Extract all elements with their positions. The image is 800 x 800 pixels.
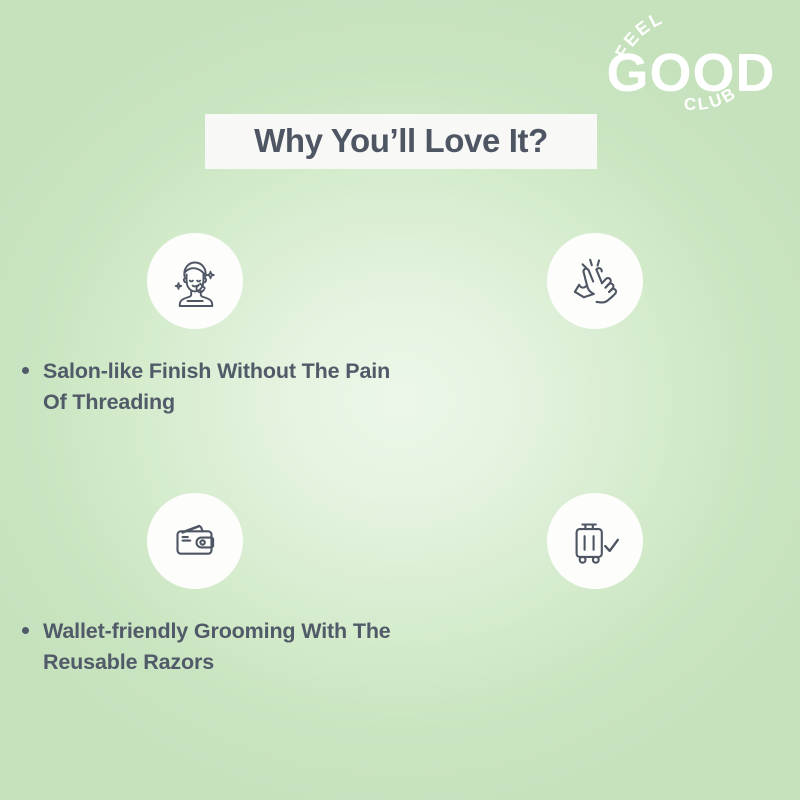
feature-item: Instant Results, Suitable For Last Minut… [400,218,800,478]
snapping-fingers-icon [565,251,625,311]
icon-circle [547,493,643,589]
page-title: Why You’ll Love It? [254,124,548,157]
feature-item: Lightweight, Compact And Travel-friendly… [400,478,800,738]
icon-circle [147,493,243,589]
suitcase-check-icon [565,511,625,571]
feel-good-club-logo: FEEL GOOD CLUB [596,14,786,118]
woman-face-grooming-icon [164,250,226,312]
feature-item: Wallet-friendly Grooming With The Reusab… [0,478,400,738]
title-banner: Why You’ll Love It? [205,114,597,169]
promo-infographic: FEEL GOOD CLUB Why You’ll Love It? [0,0,800,800]
feature-label: Wallet-friendly Grooming With The Reusab… [43,616,394,677]
feature-item: Salon-like Finish Without The Pain Of Th… [0,218,400,478]
feature-grid: Salon-like Finish Without The Pain Of Th… [0,218,800,738]
bullet-dot-icon [22,367,29,374]
icon-circle [147,233,243,329]
wallet-icon [165,511,225,571]
icon-circle [547,233,643,329]
feature-label: Salon-like Finish Without The Pain Of Th… [43,356,394,417]
bullet-dot-icon [22,627,29,634]
logo-word-good: GOOD [606,43,775,103]
feature-text-row: Salon-like Finish Without The Pain Of Th… [22,356,394,417]
feature-text-row: Wallet-friendly Grooming With The Reusab… [22,616,394,677]
